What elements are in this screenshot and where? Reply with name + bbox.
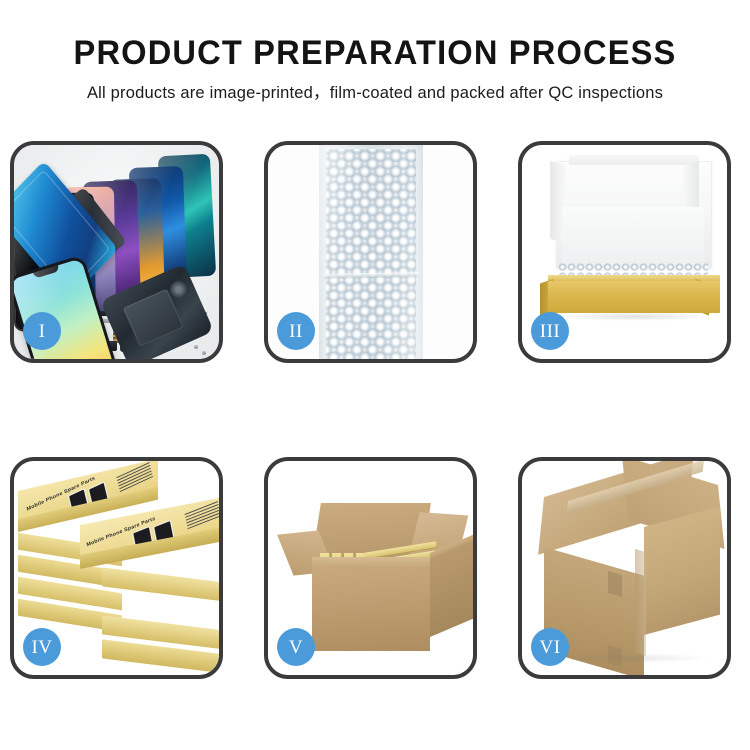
step-badge-v: V xyxy=(277,628,315,666)
box-spec-lines-2 xyxy=(185,501,219,532)
step-badge-vi: VI xyxy=(531,628,569,666)
bubble-wrap-sleeve xyxy=(319,145,423,359)
step-badge-iv: IV xyxy=(23,628,61,666)
screw-part-2 xyxy=(202,351,206,355)
carton-edge-seam xyxy=(635,549,646,656)
step-panel-iv[interactable]: Mobile Phone Spare Parts Mobile Phone Sp… xyxy=(10,457,223,679)
step-panel-i[interactable]: I xyxy=(10,141,223,363)
process-steps-grid: I II xyxy=(0,0,750,750)
plastic-sheen xyxy=(319,145,423,359)
box-inner-liner xyxy=(562,207,704,265)
box-front-face xyxy=(548,281,720,313)
step-panel-v[interactable]: V xyxy=(264,457,477,679)
carton-hand-hole-upper xyxy=(608,571,622,597)
screw-part-1 xyxy=(194,345,198,349)
step-panel-vi[interactable]: VI xyxy=(518,457,731,679)
box-shadow xyxy=(556,312,714,321)
carton-front-face xyxy=(312,567,430,651)
carton-shadow xyxy=(552,653,712,663)
product-preparation-infographic: PRODUCT PREPARATION PROCESS All products… xyxy=(0,0,750,750)
step-panel-iii[interactable]: III xyxy=(518,141,731,363)
sealed-carton-right-face xyxy=(644,507,720,635)
step-badge-i: I xyxy=(23,312,61,350)
step-panel-ii[interactable]: II xyxy=(264,141,477,363)
step-badge-ii: II xyxy=(277,312,315,350)
step-badge-iii: III xyxy=(531,312,569,350)
